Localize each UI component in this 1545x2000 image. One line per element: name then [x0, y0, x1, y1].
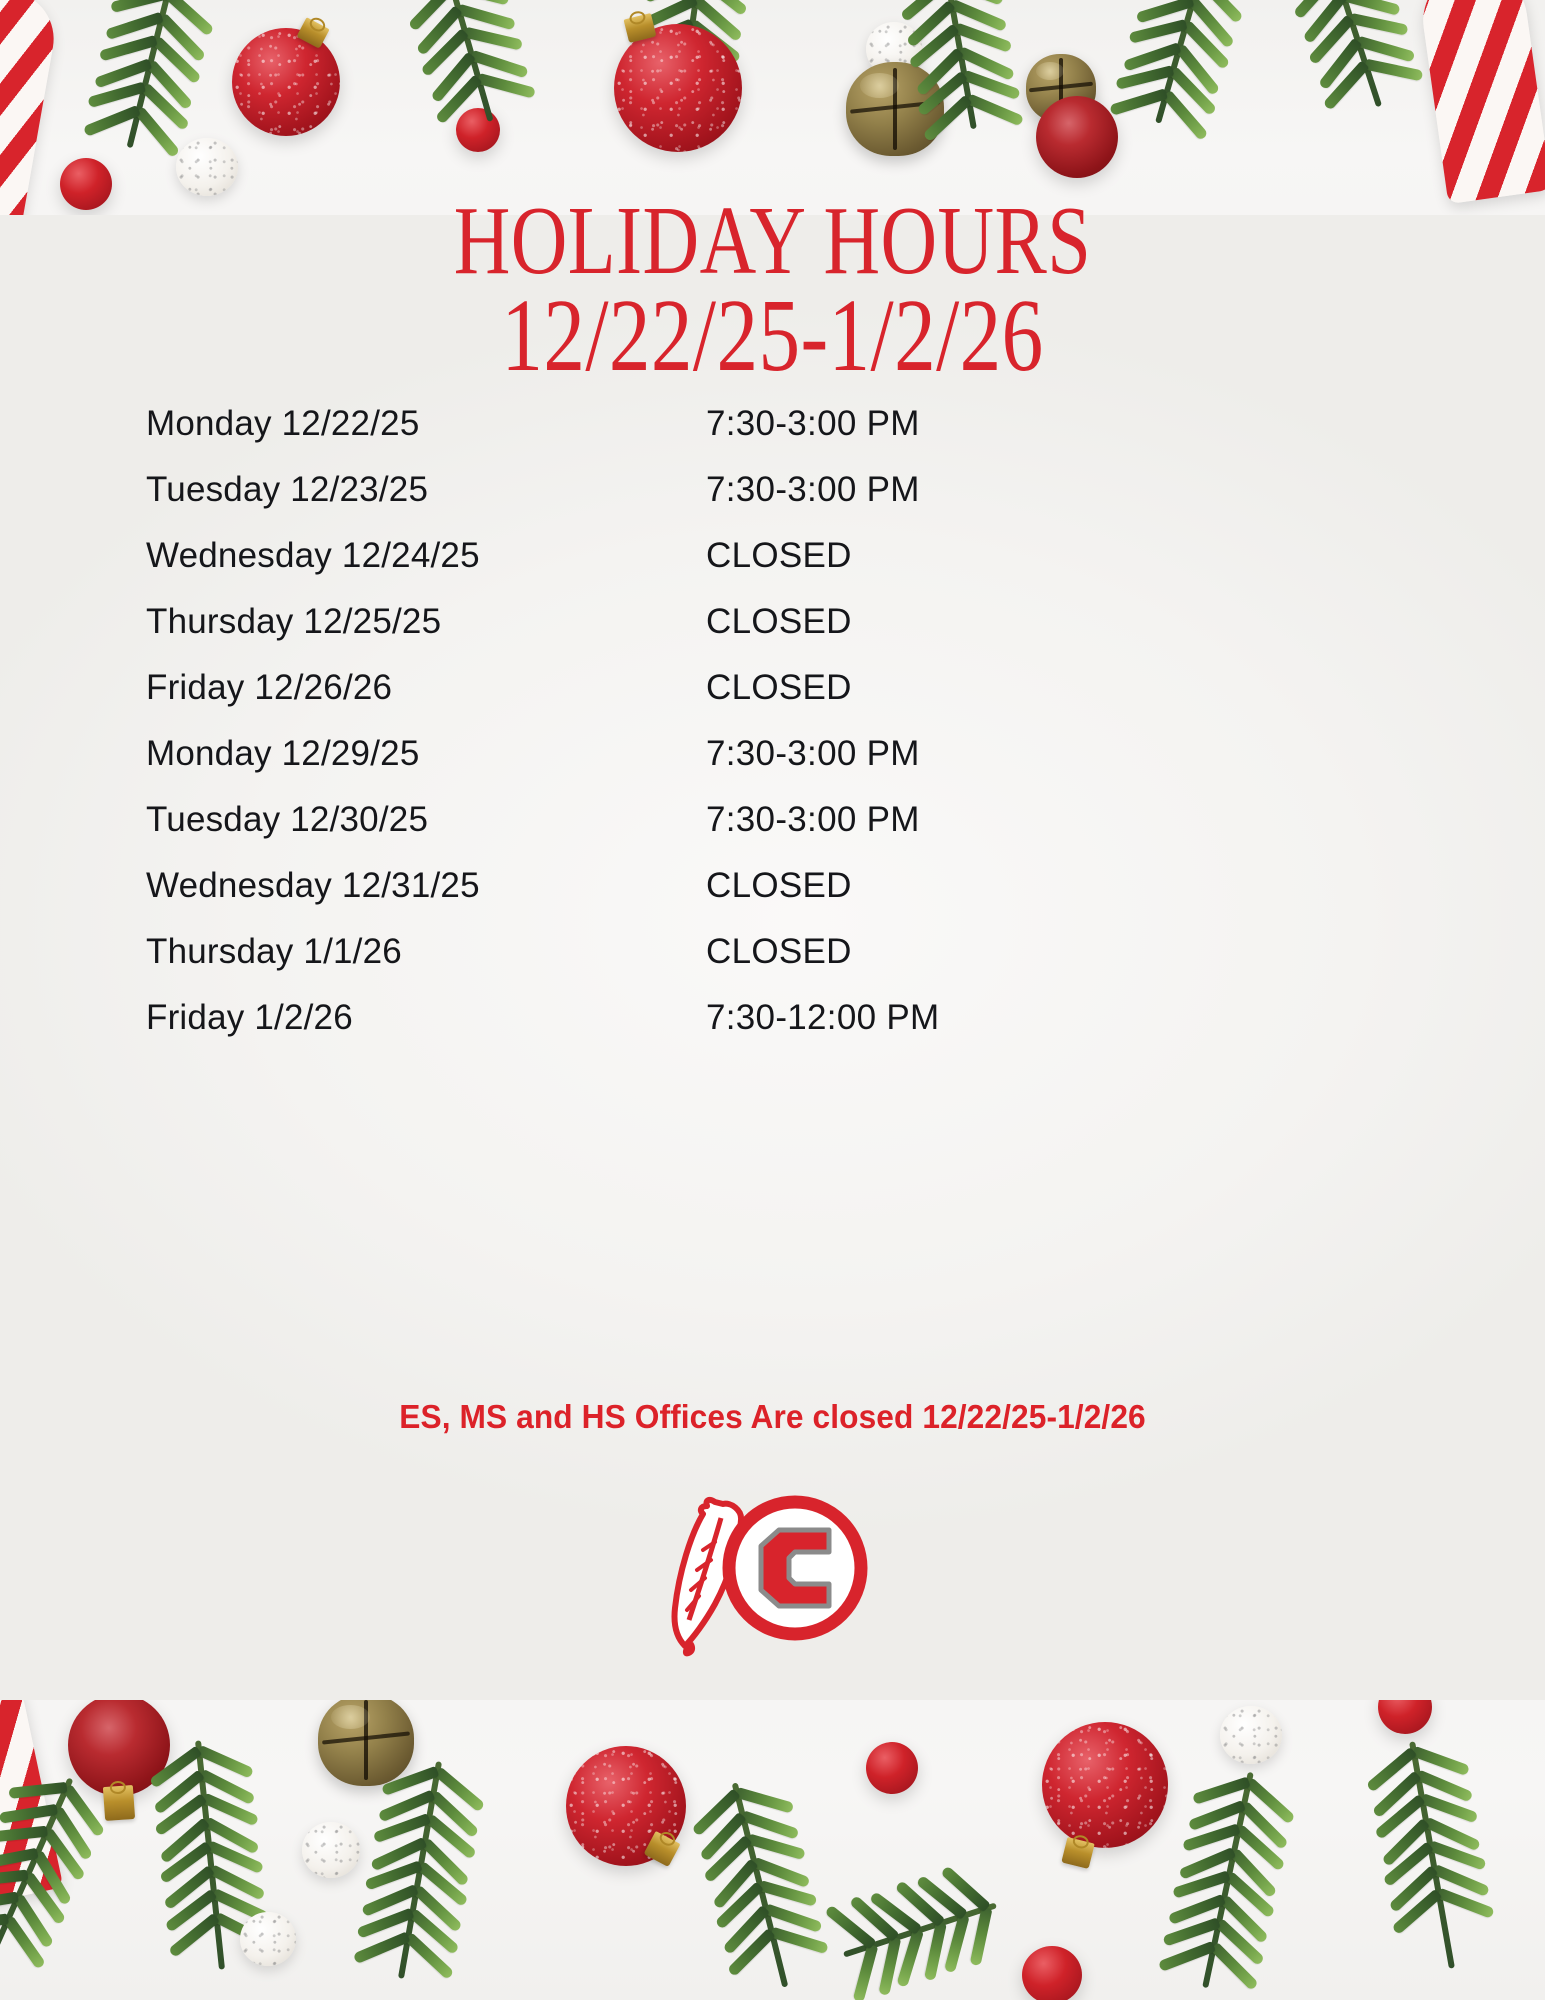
pine-sprig-icon	[0, 1779, 71, 1962]
pine-sprig-icon	[1158, 0, 1202, 123]
table-row: Monday 12/29/25 7:30-3:00 PM	[146, 734, 1206, 800]
pine-sprig-icon	[844, 1905, 996, 1954]
table-row: Thursday 12/25/25 CLOSED	[146, 602, 1206, 668]
table-row: Friday 1/2/26 7:30-12:00 PM	[146, 998, 1206, 1064]
candy-cane-icon	[0, 1700, 63, 1908]
white-glitter-ball-icon	[176, 138, 238, 196]
hours-schedule: Monday 12/22/25 7:30-3:00 PM Tuesday 12/…	[146, 404, 1206, 1064]
pine-sprig-icon	[946, 0, 974, 129]
red-bauble-small-icon	[866, 1742, 918, 1794]
schedule-hours: 7:30-3:00 PM	[706, 800, 920, 840]
red-bauble-small-icon	[1378, 1700, 1432, 1734]
bauble-cap-icon	[644, 1831, 681, 1867]
border-background	[0, 0, 1545, 215]
jingle-bell-icon	[846, 62, 944, 156]
bauble-cap-icon	[1061, 1837, 1094, 1869]
white-glitter-ball-icon	[302, 1822, 360, 1878]
table-row: Monday 12/22/25 7:30-3:00 PM	[146, 404, 1206, 470]
table-row: Thursday 1/1/26 CLOSED	[146, 932, 1206, 998]
pine-sprig-icon	[449, 0, 490, 121]
white-glitter-ball-icon	[240, 1912, 296, 1966]
schedule-hours: CLOSED	[706, 668, 852, 708]
red-bauble-icon	[1036, 96, 1118, 178]
school-logo	[643, 1480, 903, 1660]
schedule-day: Tuesday 12/30/25	[146, 800, 706, 840]
pine-sprig-icon	[680, 0, 701, 115]
candy-cane-icon	[0, 0, 61, 215]
holiday-hours-flyer: HOLIDAY HOURS 12/22/25-1/2/26 Monday 12/…	[0, 0, 1545, 2000]
table-row: Friday 12/26/26 CLOSED	[146, 668, 1206, 734]
bauble-cap-icon	[296, 17, 329, 49]
office-closure-notice: ES, MS and HS Offices Are closed 12/22/2…	[31, 1398, 1514, 1436]
title-line-1: HOLIDAY HOURS	[155, 196, 1391, 286]
schedule-day: Thursday 1/1/26	[146, 932, 706, 972]
schedule-day: Tuesday 12/23/25	[146, 470, 706, 510]
pine-sprig-icon	[198, 1741, 222, 1970]
schedule-day: Monday 12/29/25	[146, 734, 706, 774]
pine-sprig-icon	[1205, 1772, 1251, 1987]
schedule-hours: 7:30-3:00 PM	[706, 404, 920, 444]
schedule-day: Wednesday 12/31/25	[146, 866, 706, 906]
pine-sprig-icon	[1412, 1742, 1452, 1969]
candy-cane-icon	[1417, 0, 1545, 204]
pine-sprig-icon	[401, 1762, 439, 1979]
schedule-day: Monday 12/22/25	[146, 404, 706, 444]
jingle-bell-icon	[1026, 54, 1096, 122]
red-bauble-small-icon	[1022, 1946, 1082, 2000]
bauble-cap-icon	[103, 1785, 135, 1821]
page-title: HOLIDAY HOURS 12/22/25-1/2/26	[0, 196, 1545, 384]
table-row: Wednesday 12/31/25 CLOSED	[146, 866, 1206, 932]
schedule-hours: 7:30-3:00 PM	[706, 470, 920, 510]
red-glitter-bauble-icon	[1042, 1722, 1168, 1848]
schedule-day: Friday 12/26/26	[146, 668, 706, 708]
table-row: Tuesday 12/30/25 7:30-3:00 PM	[146, 800, 1206, 866]
red-glitter-bauble-icon	[566, 1746, 686, 1866]
top-decorative-border	[0, 0, 1545, 215]
pine-sprig-icon	[735, 1783, 786, 1987]
red-bauble-small-icon	[456, 108, 500, 152]
red-glitter-bauble-icon	[614, 24, 742, 152]
schedule-day: Friday 1/2/26	[146, 998, 706, 1038]
jingle-bell-icon	[318, 1700, 414, 1786]
bauble-cap-icon	[624, 13, 657, 43]
schedule-hours: CLOSED	[706, 866, 852, 906]
white-glitter-ball-icon	[866, 22, 922, 76]
pine-sprig-icon	[1333, 0, 1379, 106]
logo-ring	[729, 1502, 861, 1634]
table-row: Wednesday 12/24/25 CLOSED	[146, 536, 1206, 602]
schedule-hours: CLOSED	[706, 602, 852, 642]
schedule-hours: CLOSED	[706, 536, 852, 576]
table-row: Tuesday 12/23/25 7:30-3:00 PM	[146, 470, 1206, 536]
white-glitter-ball-icon	[1220, 1706, 1282, 1764]
border-background	[0, 1700, 1545, 2000]
pine-sprig-icon	[129, 0, 170, 147]
schedule-hours: 7:30-12:00 PM	[706, 998, 940, 1038]
bottom-decorative-border	[0, 1700, 1545, 2000]
red-glitter-bauble-icon	[232, 28, 340, 136]
schedule-day: Wednesday 12/24/25	[146, 536, 706, 576]
schedule-day: Thursday 12/25/25	[146, 602, 706, 642]
schedule-hours: CLOSED	[706, 932, 852, 972]
schedule-hours: 7:30-3:00 PM	[706, 734, 920, 774]
title-line-2: 12/22/25-1/2/26	[155, 288, 1391, 384]
red-bauble-icon	[68, 1700, 170, 1796]
